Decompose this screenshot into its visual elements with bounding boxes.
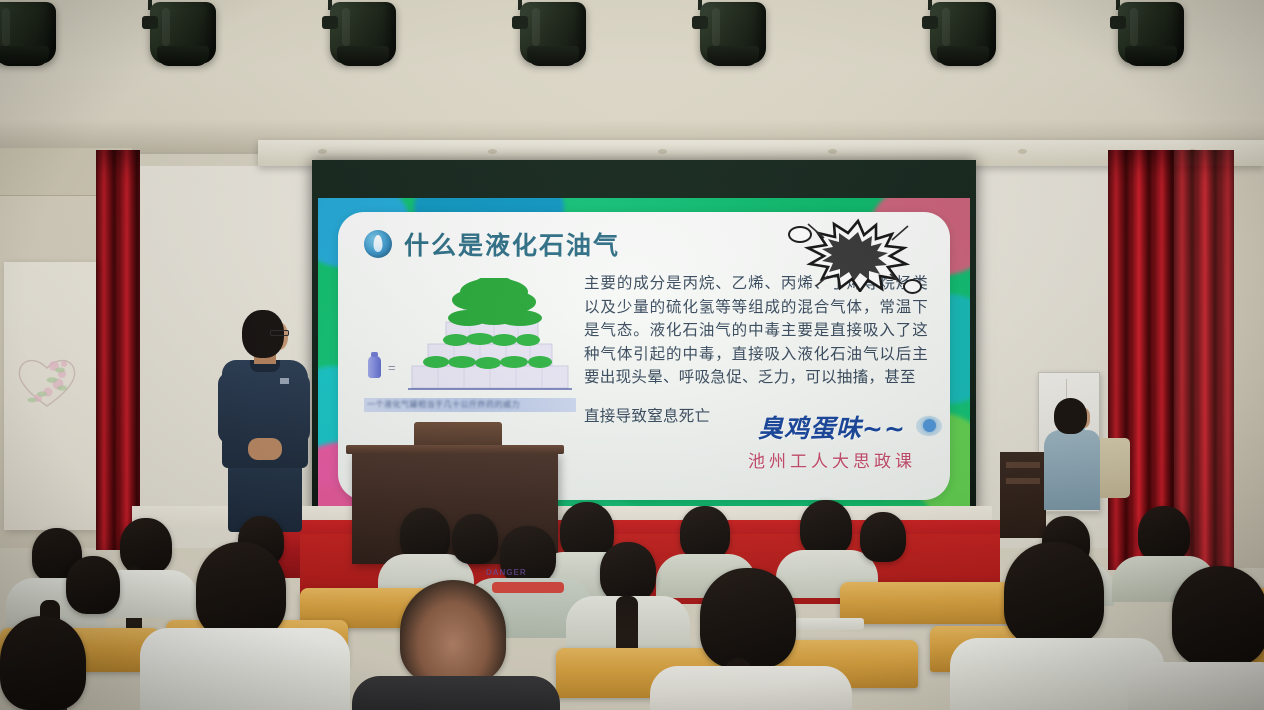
cylinder-pyramid-graphic: [408, 278, 572, 394]
slide-body: = 一个液化气罐相当于几十公斤炸药的威力 主要的成分是丙烷、乙烯、丙烯、丁烯等烷…: [364, 272, 928, 426]
jersey-text: DANGER: [486, 568, 527, 577]
student-audience: DANGER: [0, 470, 1264, 710]
audience-shoulders: [352, 676, 560, 710]
jersey-collar-stripe: [492, 582, 564, 593]
glasses-icon: [270, 330, 289, 336]
audience-head: [66, 556, 120, 614]
audience-head: [196, 542, 286, 638]
blue-status-dot-icon: [916, 416, 942, 436]
slogan-sub-watermark: 池州工人大思政课: [748, 447, 916, 472]
slide-title: 什么是液化石油气: [404, 226, 620, 262]
smoke-puff-icon: [788, 226, 812, 243]
audience-head: [860, 512, 906, 562]
heart-floral-icon: [14, 350, 80, 412]
slide-slogan: 臭鸡蛋味~~ 池州工人大思政课: [748, 409, 916, 472]
slogan-main-text: 臭鸡蛋味~~: [748, 409, 916, 445]
audience-head: [1138, 506, 1190, 562]
audience-head: [1172, 566, 1264, 666]
audience-head: [400, 580, 506, 684]
audience-head: [452, 514, 498, 564]
audience-head: [800, 500, 852, 556]
slide-text-column: 主要的成分是丙烷、乙烯、丙烯、丁烯等烷烃类以及少量的硫化氢等等组成的混合气体，常…: [578, 272, 928, 426]
single-gas-cylinder-icon: [368, 356, 381, 378]
audience-head: [120, 518, 172, 574]
infographic-caption: 一个液化气罐相当于几十公斤炸药的威力: [364, 398, 576, 412]
audience-head: [0, 616, 86, 710]
audience-head: [1004, 542, 1104, 646]
desk-surface: [790, 618, 864, 630]
lecture-hall-photo: 什么是液化石油气: [0, 0, 1264, 710]
audience-head: [700, 568, 796, 668]
audience-shoulders: [650, 666, 852, 710]
audience-head: [600, 542, 656, 602]
audience-shoulders: [140, 628, 350, 710]
gas-cylinder-infographic: = 一个液化气罐相当于几十公斤炸药的威力: [364, 272, 578, 426]
comic-explosion-burst-icon: [802, 218, 914, 292]
equals-sign: =: [388, 360, 396, 375]
smoke-puff-icon: [903, 279, 922, 294]
gas-flame-icon: [364, 230, 392, 258]
audience-head: [680, 506, 730, 560]
audience-shoulders: [1128, 662, 1264, 710]
